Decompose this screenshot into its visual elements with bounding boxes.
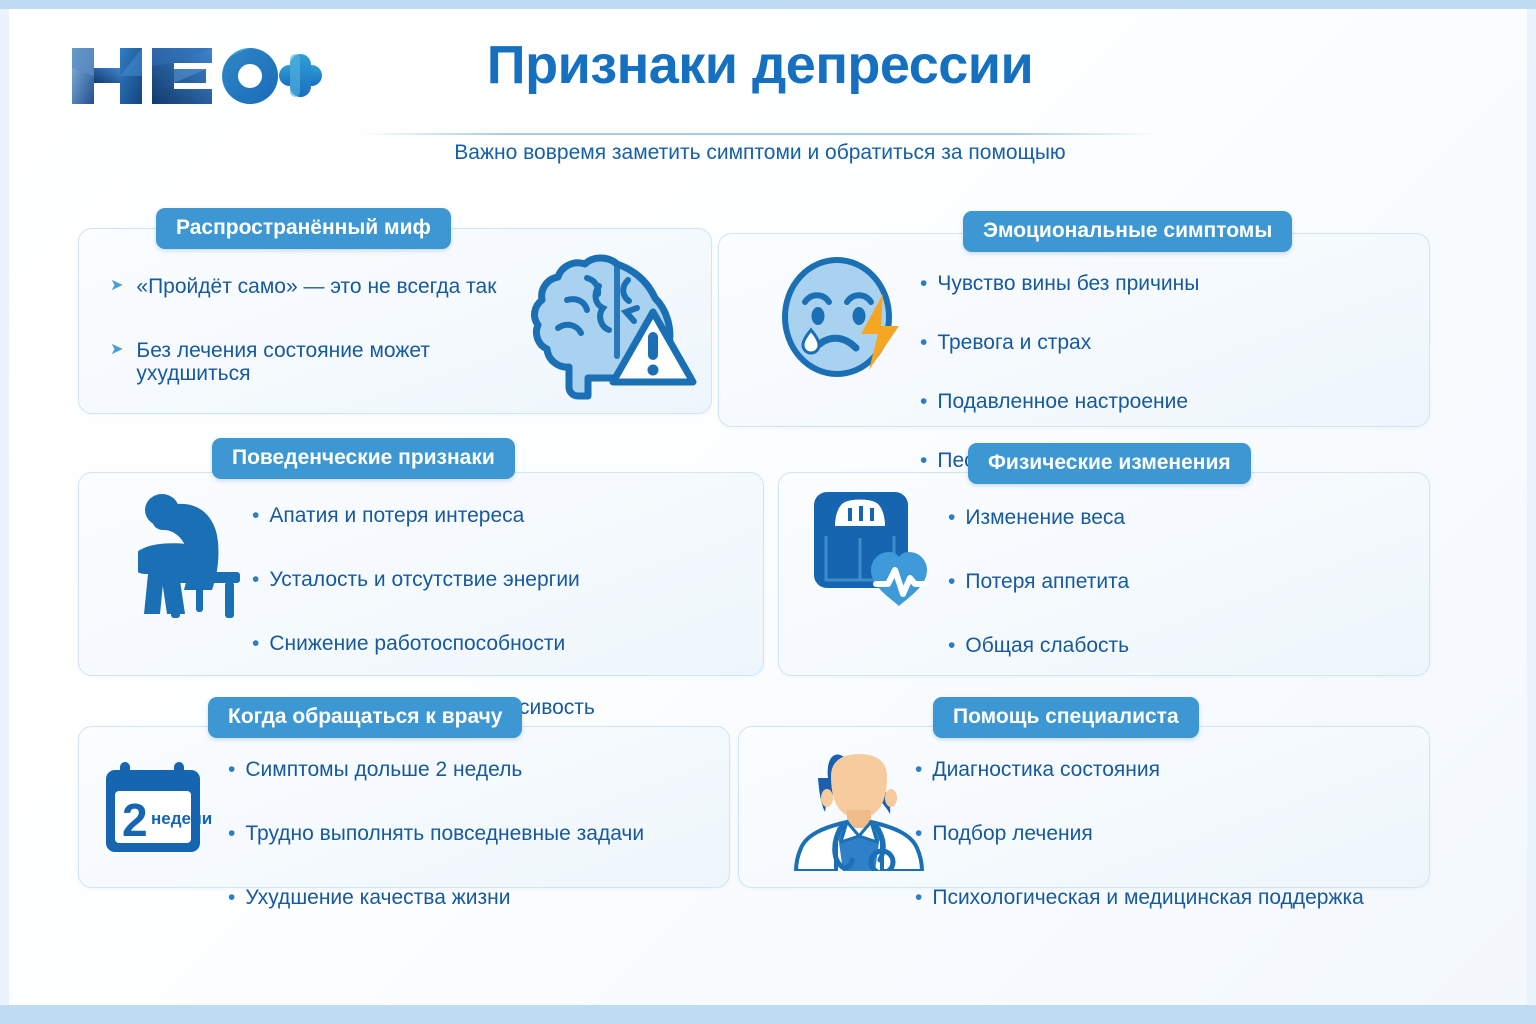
list-item: • Симптомы дольше 2 недель (228, 758, 688, 781)
page-subtitle: Важно вовремя заметить симптоми и обрати… (360, 141, 1160, 165)
card-specialist-help-bullets: • Диагностика состояния • Подбор лечения… (915, 758, 1415, 909)
list-item: • Ухудшение качества жизни (228, 886, 688, 909)
card-physical-title: Физические изменения (968, 443, 1251, 484)
card-when-to-see-doctor-bullets: • Симптомы дольше 2 недель • Трудно выпо… (228, 758, 688, 909)
list-item-label: Трудно выполнять повседневные задачи (245, 822, 644, 845)
list-item: ➤ «Пройдёт само» — это не всегда так (110, 275, 520, 298)
list-item-label: Общая слабость (965, 634, 1129, 657)
list-item: • Психологическая и медицинская поддержк… (915, 886, 1415, 909)
dot-bullet-icon: • (948, 634, 955, 657)
list-item: • Тревога и страх (920, 331, 1390, 354)
brain-warning-icon (527, 250, 702, 405)
dot-bullet-icon: • (228, 822, 235, 845)
list-item-label: Симптомы дольше 2 недель (245, 758, 522, 781)
list-item-label: Подавленное настроение (937, 390, 1188, 413)
list-item: • Усталость и отсутствие энергии (252, 568, 702, 591)
dot-bullet-icon: • (920, 272, 927, 295)
list-item: ➤ Без лечения состояние может ухудшиться (110, 339, 520, 385)
list-item: • Трудно выполнять повседневные задачи (228, 822, 688, 845)
dot-bullet-icon: • (920, 331, 927, 354)
dot-bullet-icon: • (228, 886, 235, 909)
list-item-label: Тревога и страх (937, 331, 1091, 354)
list-item-label: «Пройдёт само» — это не всегда так (136, 275, 496, 298)
sad-face-bolt-icon (777, 252, 907, 387)
top-band (0, 0, 1536, 9)
arrow-bullet-icon: ➤ (110, 275, 123, 297)
list-item: • Изменение веса (948, 506, 1388, 529)
list-item: • Потеря аппетита (948, 570, 1388, 593)
card-behavioral-title: Поведенческие признаки (212, 438, 515, 479)
list-item-label: Психологическая и медицинская поддержка (932, 886, 1363, 909)
list-item: • Диагностика состояния (915, 758, 1415, 781)
card-physical-bullets: • Изменение веса • Потеря аппетита • Общ… (948, 506, 1388, 657)
list-item-label: Без лечения состояние может ухудшиться (136, 339, 520, 385)
list-item-label: Чувство вины без причины (937, 272, 1199, 295)
bottom-band (0, 1005, 1536, 1024)
dot-bullet-icon: • (915, 886, 922, 909)
list-item-label: Снижение работоспособности (269, 632, 565, 655)
dot-bullet-icon: • (948, 570, 955, 593)
dot-bullet-icon: • (228, 758, 235, 781)
doctor-icon (790, 736, 930, 876)
list-item-label: Изменение веса (965, 506, 1125, 529)
card-behavioral-bullets: • Апатия и потеря интереса • Усталость и… (252, 504, 702, 719)
list-item: • Подавленное настроение (920, 390, 1390, 413)
infographic-page: Признаки депрессии Важно вовремя заметит… (0, 0, 1536, 1024)
dot-bullet-icon: • (252, 632, 259, 655)
list-item-label: Усталость и отсутствие энергии (269, 568, 579, 591)
card-myth-title: Распространённый миф (156, 208, 451, 249)
brand-logo (72, 36, 322, 116)
list-item-label: Ухудшение качества жизни (245, 886, 510, 909)
list-item: • Снижение работоспособности (252, 632, 702, 655)
list-item-label: Подбор лечения (932, 822, 1092, 845)
dot-bullet-icon: • (920, 449, 927, 472)
dot-bullet-icon: • (252, 568, 259, 591)
list-item-label: Потеря аппетита (965, 570, 1129, 593)
scale-heart-icon (812, 488, 937, 615)
page-title: Признаки депрессии (360, 37, 1160, 94)
title-divider (360, 133, 1156, 135)
list-item: • Апатия и потеря интереса (252, 504, 702, 527)
calendar-caption: недели (151, 809, 212, 828)
card-specialist-help-title: Помощь специалиста (933, 697, 1199, 738)
card-when-to-see-doctor-title: Когда обращаться к врачу (208, 697, 522, 738)
list-item: • Чувство вины без причины (920, 272, 1390, 295)
list-item-label: Апатия и потеря интереса (269, 504, 524, 527)
sitting-person-icon (138, 486, 248, 626)
calendar-two-weeks-icon: 2 недели (104, 758, 219, 863)
page-header: Признаки депрессии Важно вовремя заметит… (0, 9, 1536, 169)
arrow-bullet-icon: ➤ (110, 339, 123, 361)
dot-bullet-icon: • (948, 506, 955, 529)
list-item: • Подбор лечения (915, 822, 1415, 845)
dot-bullet-icon: • (920, 390, 927, 413)
dot-bullet-icon: • (252, 504, 259, 527)
card-emotional-title: Эмоциональные симптомы (963, 211, 1292, 252)
calendar-number: 2 (122, 794, 148, 846)
list-item: • Общая слабость (948, 634, 1388, 657)
list-item-label: Диагностика состояния (932, 758, 1160, 781)
card-myth-bullets: ➤ «Пройдёт само» — это не всегда так ➤ Б… (110, 275, 520, 385)
